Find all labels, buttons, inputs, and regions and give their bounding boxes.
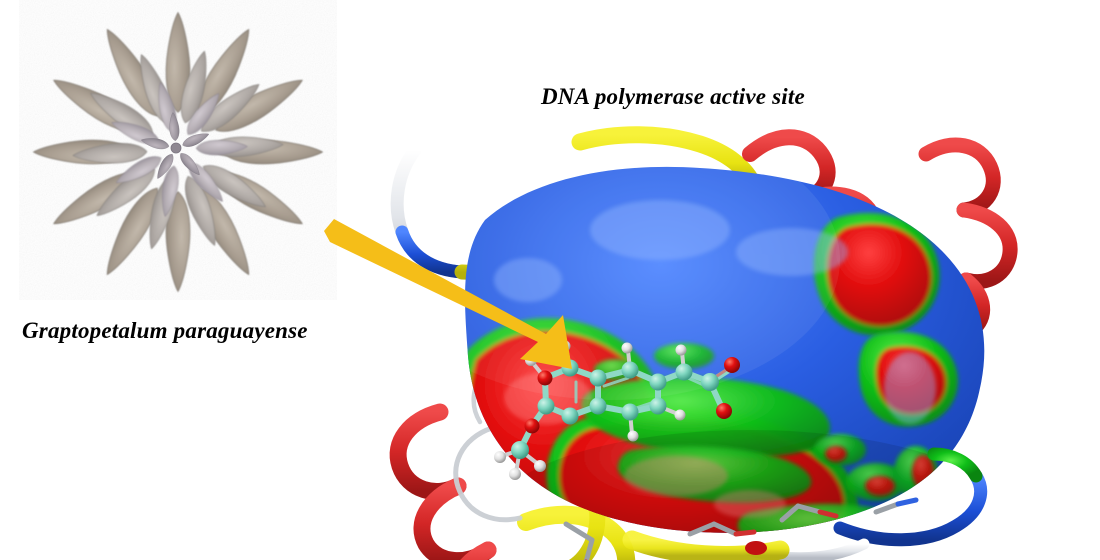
species-label: Graptopetalum paraguayense xyxy=(22,318,308,344)
active-site-label: DNA polymerase active site xyxy=(541,84,805,110)
figure-canvas: Graptopetalum paraguayense DNA polymeras… xyxy=(0,0,1100,560)
arrow-shape xyxy=(324,219,572,369)
pointer-arrow xyxy=(310,215,600,395)
